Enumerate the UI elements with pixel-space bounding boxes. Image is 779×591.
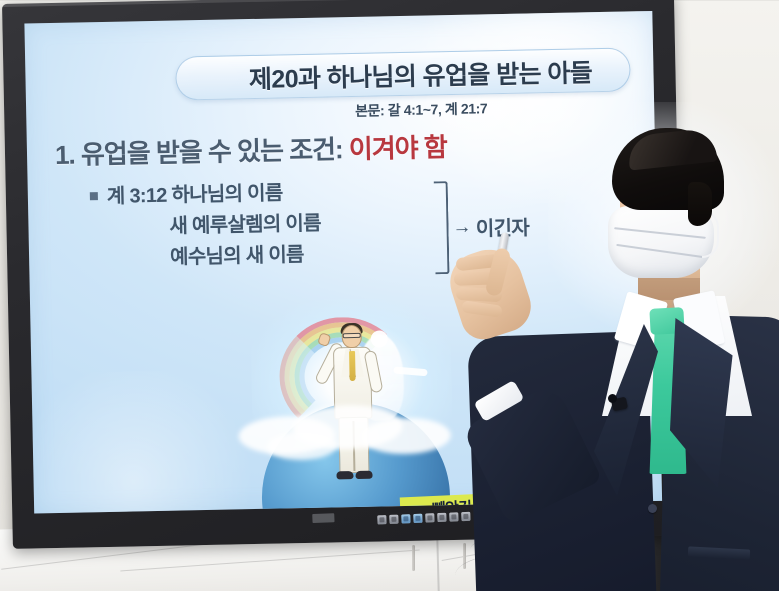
brand-logo bbox=[312, 513, 334, 523]
man-raised-hand bbox=[317, 332, 331, 347]
man-tie bbox=[349, 351, 356, 381]
presenter-person bbox=[452, 128, 779, 591]
bullet-list: 계 3:12 하나님의 이름 새 예루살렘의 이름 예수님의 새 이름 bbox=[90, 178, 322, 276]
cabinet-handle[interactable] bbox=[412, 545, 415, 571]
jacket-button bbox=[648, 504, 657, 513]
grouping-bracket bbox=[434, 181, 450, 274]
volume-down-button[interactable] bbox=[413, 514, 422, 523]
bezel-highlight bbox=[2, 0, 674, 7]
bullet-item: 새 예루살렘의 이름 bbox=[90, 209, 321, 245]
channel-button[interactable] bbox=[437, 513, 446, 522]
bullet-item: 계 3:12 하나님의 이름 bbox=[90, 178, 321, 214]
slide-subtitle: 본문: 갈 4:1~7, 계 21:7 bbox=[206, 95, 636, 124]
heading-accent-text: 이겨야 함 bbox=[349, 132, 447, 164]
bullet-item: 예수님의 새 이름 bbox=[91, 240, 322, 276]
glasses-icon bbox=[343, 333, 361, 338]
bullet-text: 예수님의 새 이름 bbox=[170, 240, 304, 274]
man-shoe-right bbox=[355, 471, 372, 479]
volume-up-button[interactable] bbox=[425, 513, 434, 522]
sideburn bbox=[688, 182, 712, 226]
power-button[interactable] bbox=[377, 515, 386, 524]
man-shoe-left bbox=[336, 471, 353, 479]
bullet-text: 계 3:12 하나님의 이름 bbox=[107, 178, 283, 213]
slide-title: 제20과 하나님의 유업을 받는 아들 bbox=[185, 49, 656, 100]
menu-button[interactable] bbox=[401, 514, 410, 523]
slide-illustration: 빼앗긴 지구촌을 되찾아오는 이긴자 bbox=[230, 293, 474, 510]
heading-prefix: 1. 유업을 받을 수 있는 조건: bbox=[55, 134, 349, 170]
bullet-text: 새 예루살렘의 이름 bbox=[169, 209, 321, 243]
square-bullet-icon bbox=[90, 192, 98, 200]
source-button[interactable] bbox=[389, 515, 398, 524]
microphone-capsule bbox=[608, 394, 617, 403]
